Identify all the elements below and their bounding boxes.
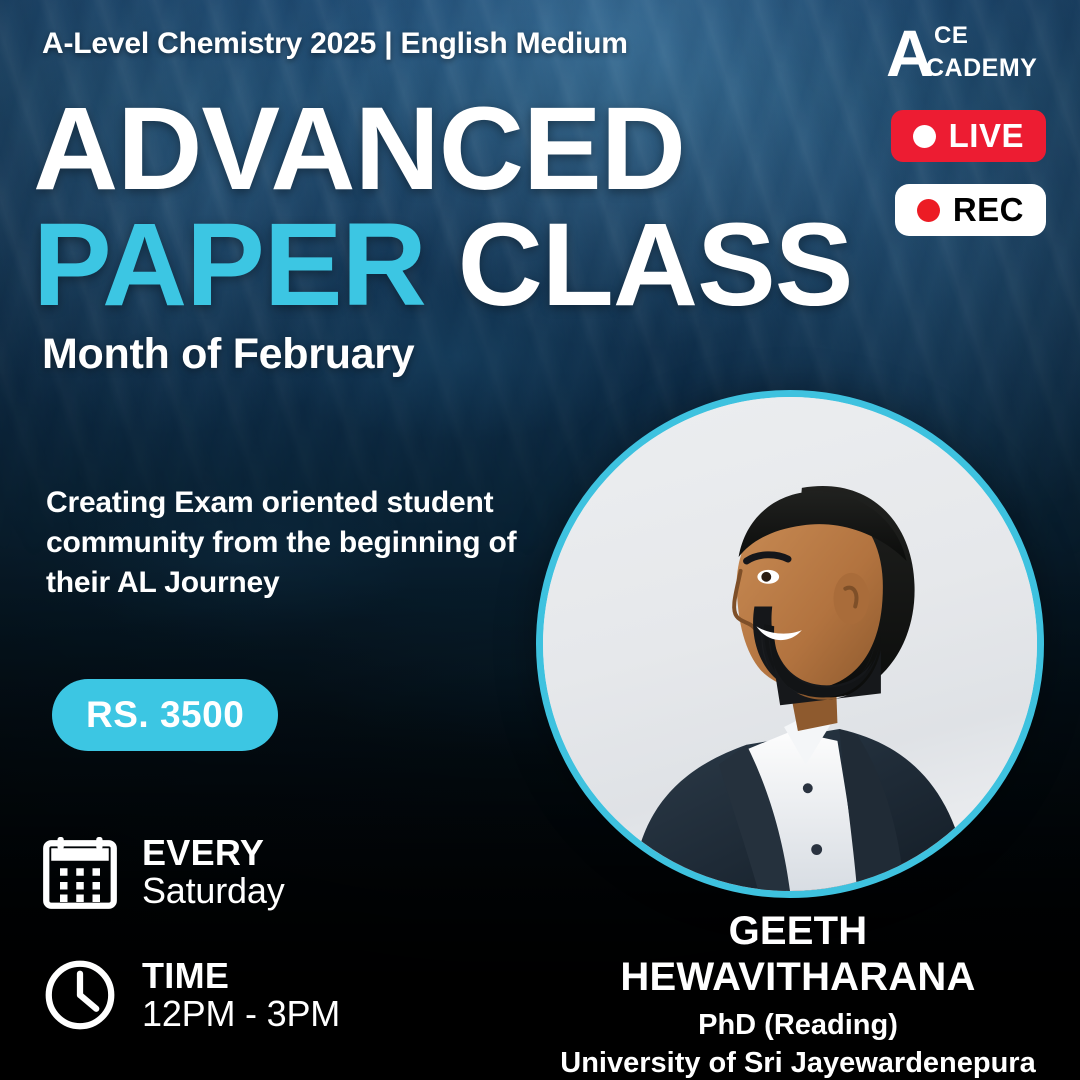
portrait-illustration bbox=[543, 397, 1037, 891]
page-title: ADVANCED PAPER CLASS bbox=[33, 92, 853, 323]
description-line-1: Creating Exam oriented student bbox=[46, 483, 546, 523]
poster-content: A-Level Chemistry 2025 | English Medium … bbox=[0, 0, 1080, 1080]
live-dot-icon bbox=[913, 125, 936, 148]
schedule-day-row: EVERY Saturday bbox=[40, 832, 285, 912]
schedule-time-heading: TIME bbox=[142, 957, 340, 995]
schedule-day-heading: EVERY bbox=[142, 834, 285, 872]
description-text: Creating Exam oriented student community… bbox=[46, 483, 546, 603]
clock-icon bbox=[40, 955, 120, 1035]
logo-text-ce: CE bbox=[934, 24, 968, 48]
course-eyebrow: A-Level Chemistry 2025 | English Medium bbox=[42, 27, 628, 61]
logo-a-mark: A bbox=[886, 20, 931, 86]
title-word-paper: PAPER bbox=[33, 199, 426, 331]
title-line-advanced: ADVANCED bbox=[33, 92, 853, 208]
rec-badge: REC bbox=[895, 184, 1046, 236]
title-subtitle: Month of February bbox=[42, 330, 414, 379]
instructor-portrait bbox=[536, 390, 1044, 898]
rec-badge-label: REC bbox=[953, 191, 1024, 229]
logo-text-cademy: CADEMY bbox=[926, 56, 1037, 81]
title-line-paper-class: PAPER CLASS bbox=[33, 208, 853, 324]
instructor-university: University of Sri Jayewardenepura bbox=[546, 1045, 1050, 1080]
price-badge: RS. 3500 bbox=[52, 679, 278, 751]
ace-academy-logo: A CE CADEMY bbox=[886, 18, 1046, 90]
promo-poster: A-Level Chemistry 2025 | English Medium … bbox=[0, 0, 1080, 1080]
schedule-time-value: 12PM - 3PM bbox=[142, 995, 340, 1033]
instructor-name: GEETH HEWAVITHARANA bbox=[546, 908, 1050, 1000]
schedule-time-row: TIME 12PM - 3PM bbox=[40, 955, 340, 1035]
live-badge-label: LIVE bbox=[949, 117, 1024, 155]
instructor-details: GEETH HEWAVITHARANA PhD (Reading) Univer… bbox=[546, 908, 1050, 1080]
price-label: RS. 3500 bbox=[86, 694, 244, 736]
live-badge: LIVE bbox=[891, 110, 1046, 162]
instructor-degree: PhD (Reading) bbox=[546, 1006, 1050, 1045]
record-dot-icon bbox=[917, 199, 940, 222]
schedule-day-value: Saturday bbox=[142, 872, 285, 910]
calendar-icon bbox=[40, 832, 120, 912]
description-line-3: their AL Journey bbox=[46, 563, 546, 603]
title-word-class: CLASS bbox=[458, 199, 853, 331]
description-line-2: community from the beginning of bbox=[46, 523, 546, 563]
schedule-day-text: EVERY Saturday bbox=[142, 834, 285, 910]
schedule-time-text: TIME 12PM - 3PM bbox=[142, 957, 340, 1033]
